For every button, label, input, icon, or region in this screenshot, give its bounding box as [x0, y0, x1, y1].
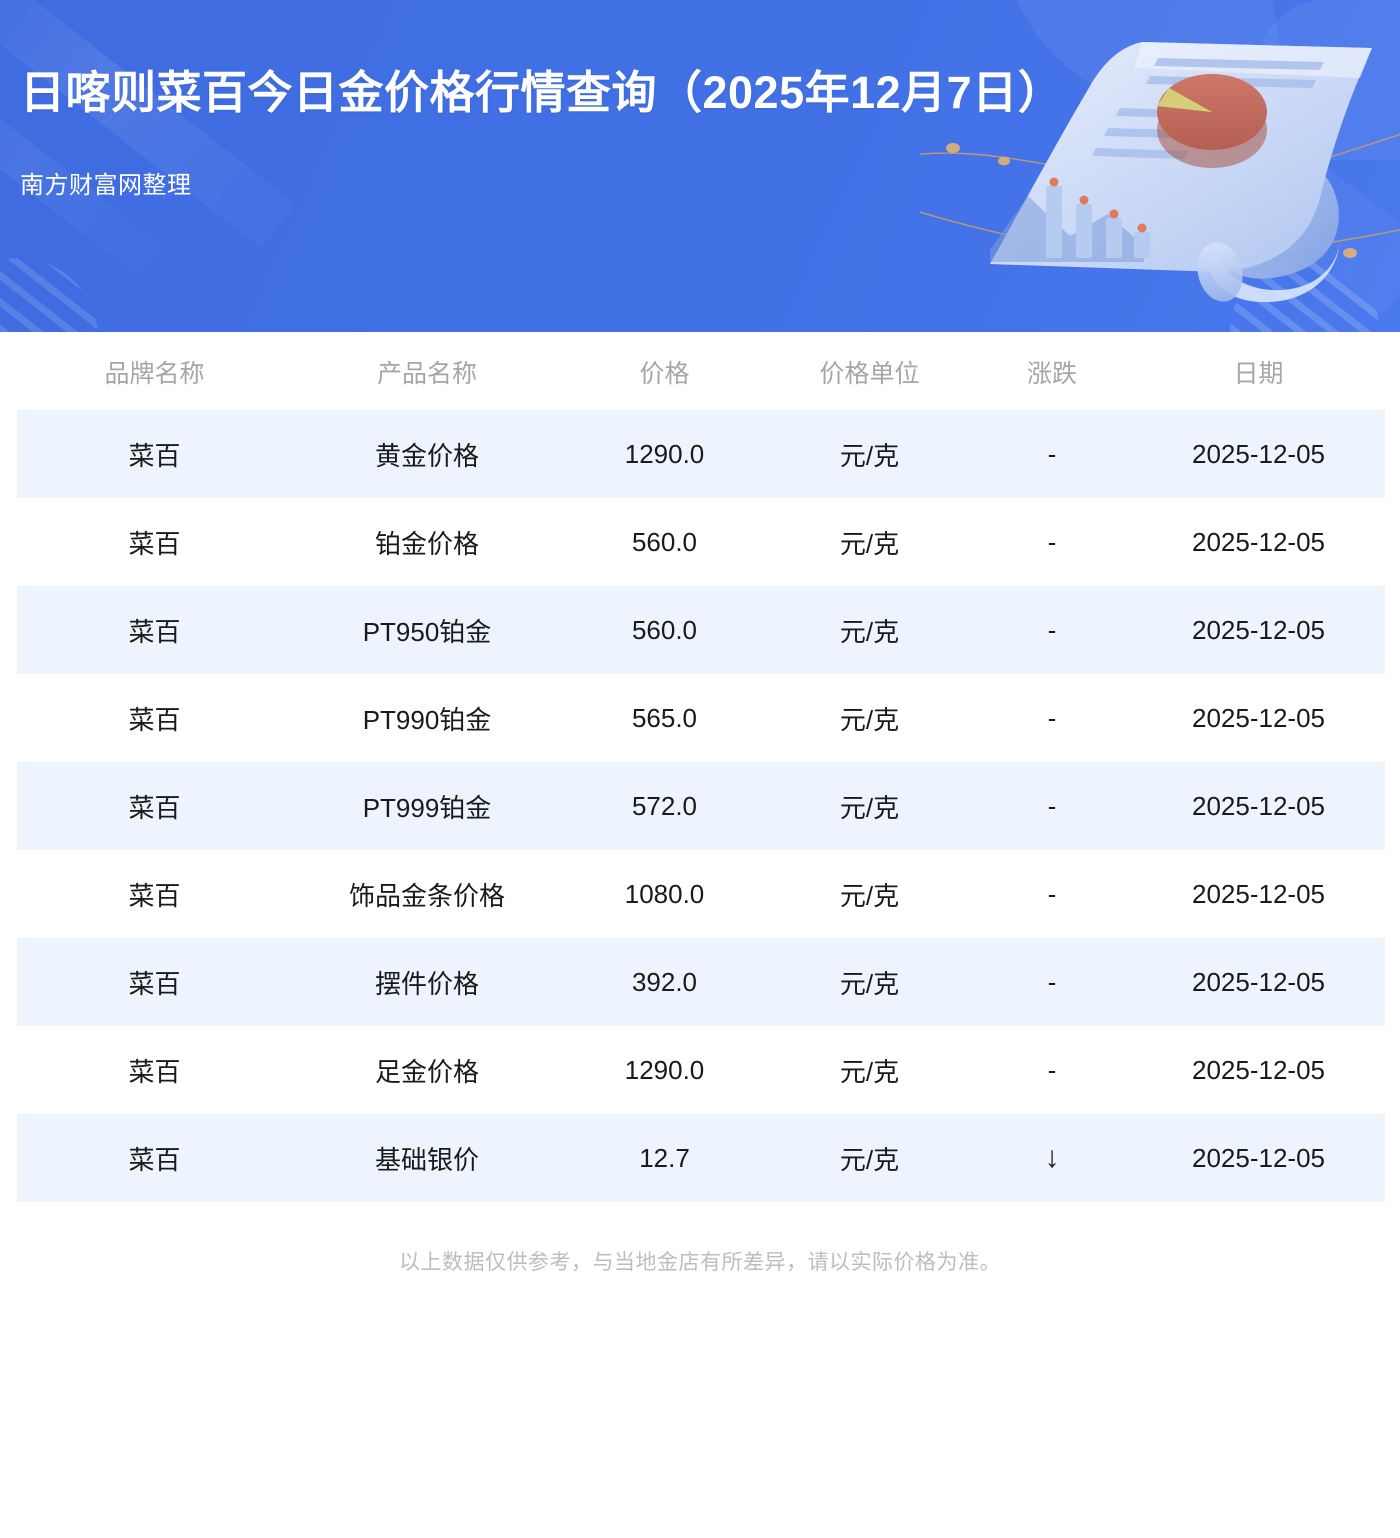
table-row: 菜百足金价格1290.0元/克-2025-12-05 [17, 1026, 1385, 1114]
gold-price-table: 品牌名称 产品名称 价格 价格单位 涨跌 日期 菜百黄金价格1290.0元/克-… [17, 332, 1385, 1202]
table-header-row: 品牌名称 产品名称 价格 价格单位 涨跌 日期 [17, 332, 1385, 410]
change-flat-icon: - [972, 938, 1132, 1026]
change-flat-icon: - [972, 498, 1132, 586]
change-flat-icon: - [972, 850, 1132, 938]
cell-unit: 元/克 [767, 938, 972, 1026]
cell-product: 基础银价 [292, 1114, 562, 1202]
cell-price: 565.0 [562, 674, 767, 762]
cell-price: 560.0 [562, 498, 767, 586]
cell-brand: 菜百 [17, 762, 292, 850]
page-banner: 日喀则菜百今日金价格行情查询（2025年12月7日） 南方财富网整理 [0, 0, 1400, 332]
cell-brand: 菜百 [17, 938, 292, 1026]
cell-date: 2025-12-05 [1132, 762, 1385, 850]
cell-product: PT950铂金 [292, 586, 562, 674]
cell-brand: 菜百 [17, 1114, 292, 1202]
cell-unit: 元/克 [767, 586, 972, 674]
cell-price: 1080.0 [562, 850, 767, 938]
cell-price: 1290.0 [562, 410, 767, 498]
striped-circle-decoration-left [0, 258, 98, 332]
table-row: 菜百摆件价格392.0元/克-2025-12-05 [17, 938, 1385, 1026]
price-table-container: 南方财富网 southmoney.com 品牌名称 产品名称 价格 价格单位 涨… [0, 332, 1400, 1276]
cell-unit: 元/克 [767, 1114, 972, 1202]
change-flat-icon: - [972, 762, 1132, 850]
arrow-down-icon: ↓ [972, 1114, 1132, 1202]
cell-product: 摆件价格 [292, 938, 562, 1026]
change-flat-icon: - [972, 410, 1132, 498]
column-header-product: 产品名称 [292, 332, 562, 410]
cell-product: PT999铂金 [292, 762, 562, 850]
cell-unit: 元/克 [767, 498, 972, 586]
cell-price: 392.0 [562, 938, 767, 1026]
cell-unit: 元/克 [767, 1026, 972, 1114]
cell-brand: 菜百 [17, 586, 292, 674]
table-row: 菜百基础银价12.7元/克↓2025-12-05 [17, 1114, 1385, 1202]
column-header-change: 涨跌 [972, 332, 1132, 410]
cell-date: 2025-12-05 [1132, 674, 1385, 762]
cell-brand: 菜百 [17, 1026, 292, 1114]
cell-unit: 元/克 [767, 850, 972, 938]
table-row: 菜百饰品金条价格1080.0元/克-2025-12-05 [17, 850, 1385, 938]
change-flat-icon: - [972, 586, 1132, 674]
change-flat-icon: - [972, 1026, 1132, 1114]
page-title: 日喀则菜百今日金价格行情查询（2025年12月7日） [20, 56, 1063, 121]
column-header-date: 日期 [1132, 332, 1385, 410]
cell-product: 黄金价格 [292, 410, 562, 498]
table-row: 菜百PT999铂金572.0元/克-2025-12-05 [17, 762, 1385, 850]
column-header-price: 价格 [562, 332, 767, 410]
column-header-unit: 价格单位 [767, 332, 972, 410]
cell-price: 1290.0 [562, 1026, 767, 1114]
page-subtitle: 南方财富网整理 [20, 165, 192, 200]
table-body: 菜百黄金价格1290.0元/克-2025-12-05菜百铂金价格560.0元/克… [17, 410, 1385, 1202]
table-footnote: 以上数据仅供参考，与当地金店有所差异，请以实际价格为准。 [0, 1202, 1400, 1276]
cell-unit: 元/克 [767, 410, 972, 498]
cell-product: 铂金价格 [292, 498, 562, 586]
cell-date: 2025-12-05 [1132, 410, 1385, 498]
cell-price: 572.0 [562, 762, 767, 850]
table-row: 菜百PT950铂金560.0元/克-2025-12-05 [17, 586, 1385, 674]
cell-brand: 菜百 [17, 410, 292, 498]
cell-unit: 元/克 [767, 762, 972, 850]
cell-price: 12.7 [562, 1114, 767, 1202]
table-row: 菜百黄金价格1290.0元/克-2025-12-05 [17, 410, 1385, 498]
cell-date: 2025-12-05 [1132, 850, 1385, 938]
cell-date: 2025-12-05 [1132, 586, 1385, 674]
table-row: 菜百铂金价格560.0元/克-2025-12-05 [17, 498, 1385, 586]
cell-brand: 菜百 [17, 674, 292, 762]
table-row: 菜百PT990铂金565.0元/克-2025-12-05 [17, 674, 1385, 762]
diagonal-streak-decoration [0, 0, 296, 249]
cell-date: 2025-12-05 [1132, 498, 1385, 586]
change-flat-icon: - [972, 674, 1132, 762]
cell-product: PT990铂金 [292, 674, 562, 762]
cell-date: 2025-12-05 [1132, 1026, 1385, 1114]
cell-product: 足金价格 [292, 1026, 562, 1114]
cell-date: 2025-12-05 [1132, 1114, 1385, 1202]
cell-date: 2025-12-05 [1132, 938, 1385, 1026]
cell-price: 560.0 [562, 586, 767, 674]
column-header-brand: 品牌名称 [17, 332, 292, 410]
cell-product: 饰品金条价格 [292, 850, 562, 938]
rolled-report-chart-illustration [920, 0, 1400, 332]
cell-unit: 元/克 [767, 674, 972, 762]
table-header: 品牌名称 产品名称 价格 价格单位 涨跌 日期 [17, 332, 1385, 410]
cell-brand: 菜百 [17, 498, 292, 586]
cell-brand: 菜百 [17, 850, 292, 938]
